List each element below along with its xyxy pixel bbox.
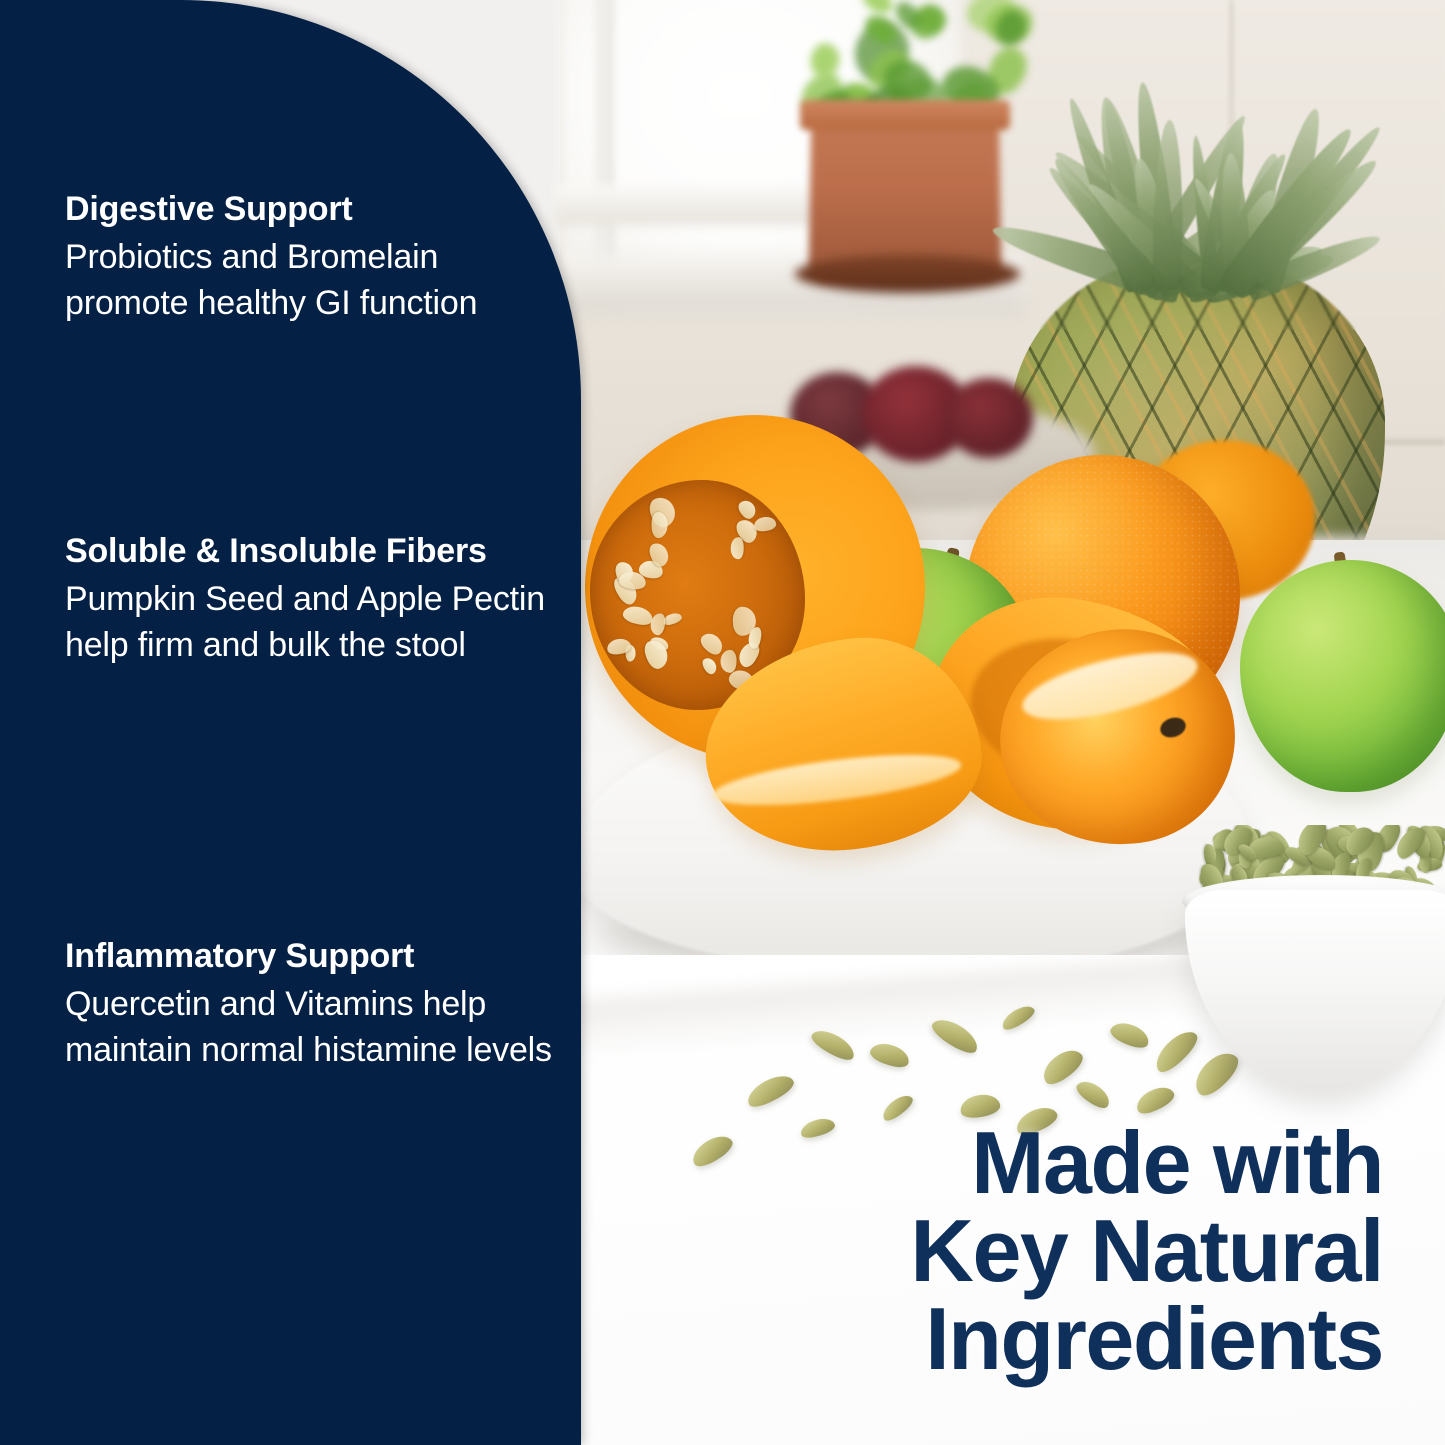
benefit-block-soluble-insoluble-fibers: Soluble & Insoluble Fibers Pumpkin Seed … bbox=[65, 530, 555, 668]
herb-leaf bbox=[804, 39, 845, 82]
pumpkin-seed bbox=[731, 537, 744, 559]
background-fruit bbox=[945, 378, 1033, 458]
benefit-block-inflammatory-support: Inflammatory Support Quercetin and Vitam… bbox=[65, 935, 555, 1073]
promo-image: Digestive Support Probiotics and Bromela… bbox=[0, 0, 1445, 1445]
headline-line-2: Key Natural bbox=[910, 1207, 1383, 1295]
benefit-title: Digestive Support bbox=[65, 188, 555, 232]
pot-saucer bbox=[795, 255, 1020, 293]
pumpkin-seed bbox=[720, 650, 737, 674]
headline: Made with Key Natural Ingredients bbox=[910, 1119, 1383, 1383]
benefit-title: Inflammatory Support bbox=[65, 935, 555, 979]
benefit-body: Pumpkin Seed and Apple Pectin help firm … bbox=[65, 576, 555, 668]
terracotta-pot-rim bbox=[800, 100, 1010, 130]
window-frame bbox=[597, 0, 613, 290]
benefit-body: Probiotics and Bromelain promote healthy… bbox=[65, 234, 555, 326]
pineapple-crown bbox=[1010, 0, 1400, 290]
headline-line-1: Made with bbox=[910, 1119, 1383, 1207]
benefit-body: Quercetin and Vitamins help maintain nor… bbox=[65, 981, 555, 1073]
benefit-block-digestive-support: Digestive Support Probiotics and Bromela… bbox=[65, 188, 555, 326]
benefits-panel: Digestive Support Probiotics and Bromela… bbox=[0, 0, 581, 1445]
benefit-title: Soluble & Insoluble Fibers bbox=[65, 530, 555, 574]
headline-line-3: Ingredients bbox=[910, 1295, 1383, 1383]
